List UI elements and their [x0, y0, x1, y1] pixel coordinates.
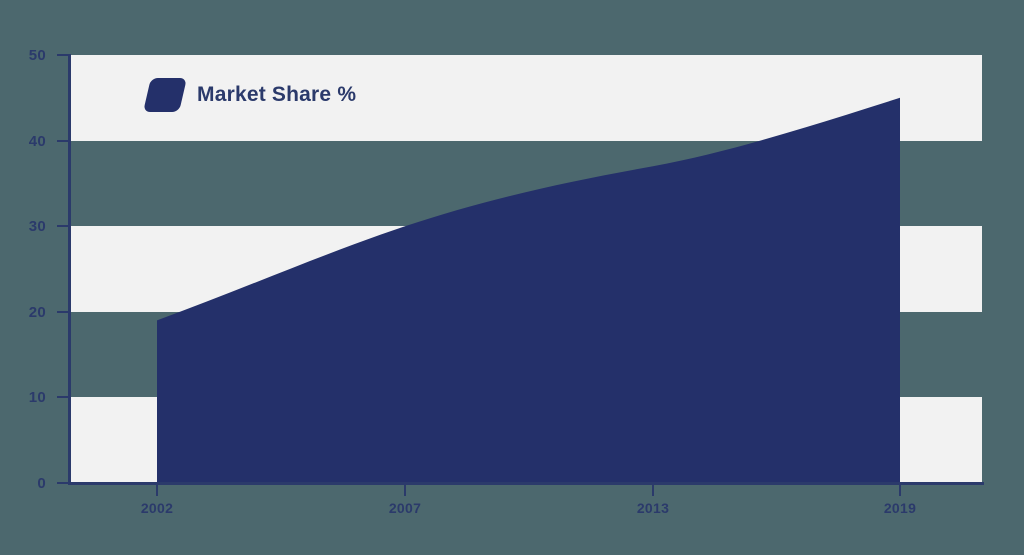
y-tick-mark-50 — [57, 54, 69, 56]
x-tick-mark-2002 — [156, 485, 158, 496]
x-tick-label-2007: 2007 — [389, 500, 421, 516]
chart-legend: Market Share % — [147, 78, 356, 112]
x-axis-line — [68, 482, 984, 485]
y-tick-label-30: 30 — [29, 218, 46, 235]
y-tick-mark-0 — [57, 482, 69, 484]
x-tick-mark-2019 — [899, 485, 901, 496]
series-layer — [70, 55, 982, 483]
legend-swatch-market-share — [143, 78, 187, 112]
legend-label-market-share: Market Share % — [197, 83, 356, 107]
area-chart: 50 40 30 20 10 0 2002 2007 2013 2019 Mar… — [0, 0, 1024, 555]
area-series-market-share — [157, 98, 900, 483]
y-axis-line — [68, 54, 71, 484]
x-tick-label-2002: 2002 — [141, 500, 173, 516]
y-tick-label-50: 50 — [29, 47, 46, 64]
y-tick-label-40: 40 — [29, 133, 46, 150]
y-tick-mark-10 — [57, 396, 69, 398]
y-tick-mark-20 — [57, 311, 69, 313]
plot-area — [70, 55, 982, 483]
y-tick-mark-30 — [57, 225, 69, 227]
x-tick-label-2013: 2013 — [637, 500, 669, 516]
y-tick-label-0: 0 — [37, 475, 46, 492]
y-tick-mark-40 — [57, 140, 69, 142]
x-tick-mark-2013 — [652, 485, 654, 496]
y-tick-label-10: 10 — [29, 389, 46, 406]
x-tick-mark-2007 — [404, 485, 406, 496]
x-tick-label-2019: 2019 — [884, 500, 916, 516]
y-tick-label-20: 20 — [29, 304, 46, 321]
